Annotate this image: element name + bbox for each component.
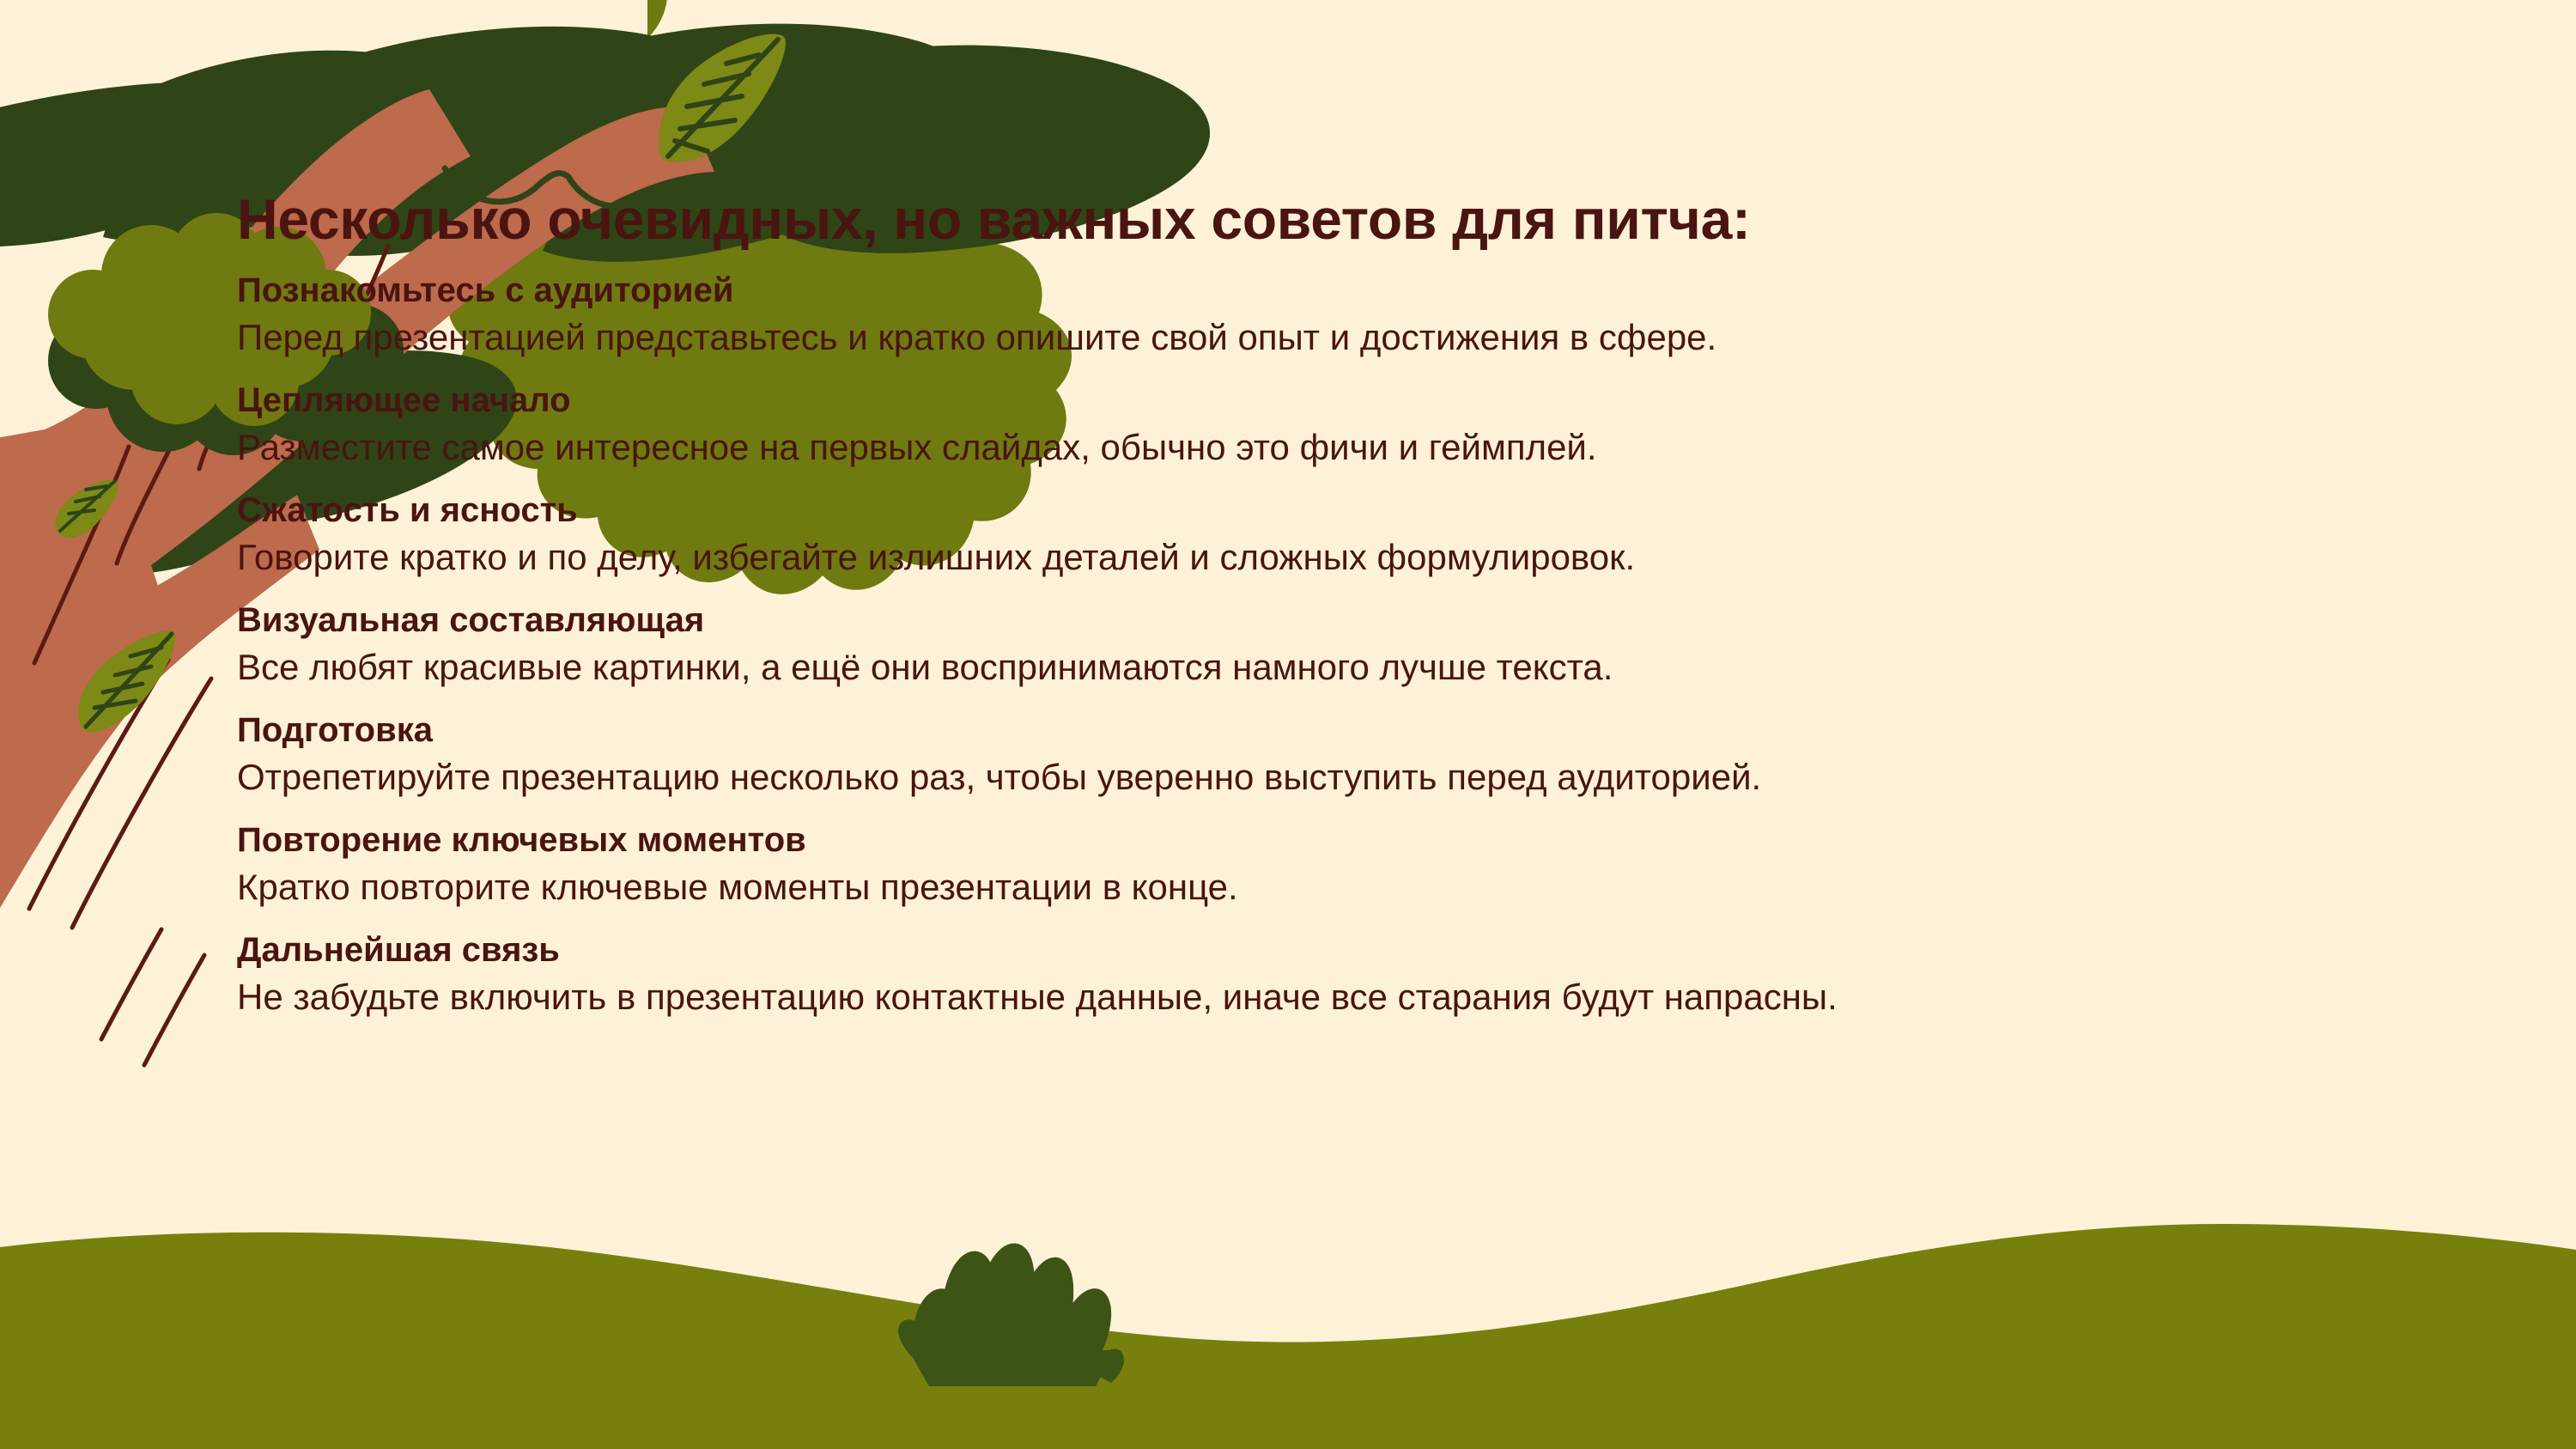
tip-body: Говорите кратко и по делу, избегайте изл… bbox=[237, 539, 2435, 603]
tip-body: Не забудьте включить в презентацию конта… bbox=[237, 979, 2435, 1043]
leaf-icon bbox=[659, 34, 786, 162]
tip-item-3: Сжатость и ясность Говорите кратко и по … bbox=[237, 493, 2435, 603]
tip-heading: Повторение ключевых моментов bbox=[237, 823, 2435, 869]
tip-body: Все любят красивые картинки, а ещё они в… bbox=[237, 649, 2435, 713]
tip-body: Перед презентацией представьтесь и кратк… bbox=[237, 320, 2435, 383]
ground-hill-shape bbox=[0, 1224, 2576, 1449]
grass-tuft-icon bbox=[898, 1243, 1124, 1386]
tip-item-6: Повторение ключевых моментов Кратко повт… bbox=[237, 823, 2435, 933]
page-title: Несколько очевидных, но важных советов д… bbox=[237, 191, 2435, 247]
tip-body: Разместите самое интересное на первых сл… bbox=[237, 429, 2435, 493]
tip-item-7: Дальнейшая связь Не забудьте включить в … bbox=[237, 933, 2435, 1043]
leaf-icon bbox=[56, 480, 118, 538]
tip-heading: Визуальная составляющая bbox=[237, 603, 2435, 649]
tip-item-4: Визуальная составляющая Все любят красив… bbox=[237, 603, 2435, 713]
slide-root: Несколько очевидных, но важных советов д… bbox=[0, 0, 2576, 1449]
tip-item-1: Познакомьтесь с аудиторией Перед презент… bbox=[237, 273, 2435, 383]
tip-body: Отрепетируйте презентацию несколько раз,… bbox=[237, 759, 2435, 823]
tip-body: Кратко повторите ключевые моменты презен… bbox=[237, 869, 2435, 933]
tip-heading: Подготовка bbox=[237, 713, 2435, 759]
tip-item-5: Подготовка Отрепетируйте презентацию нес… bbox=[237, 713, 2435, 823]
tip-heading: Познакомьтесь с аудиторией bbox=[237, 273, 2435, 320]
tip-item-2: Цепляющее начало Разместите самое интере… bbox=[237, 383, 2435, 493]
tip-heading: Цепляющее начало bbox=[237, 383, 2435, 429]
leaf-icon bbox=[78, 631, 175, 733]
slide-content: Несколько очевидных, но важных советов д… bbox=[237, 191, 2435, 1043]
tip-heading: Дальнейшая связь bbox=[237, 933, 2435, 979]
tip-heading: Сжатость и ясность bbox=[237, 493, 2435, 539]
